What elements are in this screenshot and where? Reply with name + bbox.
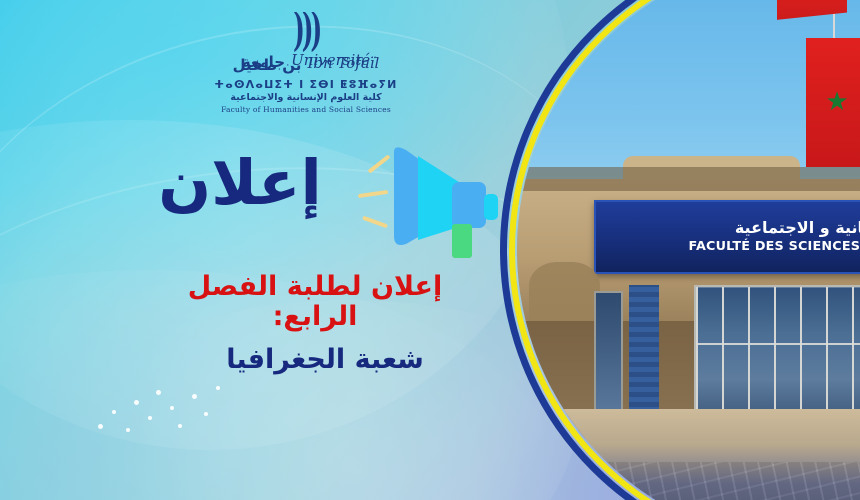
red-panel: ★ (806, 38, 860, 168)
sign-french-text: FACULTÉ DES SCIENCES HUMAINES ET SOCIALE… (688, 240, 860, 253)
logo-calligraphy-mark: ))) (251, 12, 361, 68)
faculty-sign: كلية العلوم الإنسانية و الاجتماعية FACUL… (594, 200, 860, 274)
panel-star-icon: ★ (825, 89, 848, 115)
sign-arabic-text: كلية العلوم الإنسانية و الاجتماعية (735, 220, 860, 236)
logo-english-faculty: Faculty of Humanities and Social Science… (206, 105, 406, 114)
page-title: إعلان (110, 152, 370, 214)
announcement-poster: ))) جامعة Université بن طفيل Ibn Tofaïl … (0, 0, 860, 500)
university-logo: ))) جامعة Université بن طفيل Ibn Tofaïl … (206, 8, 406, 130)
faculty-building-photo: ★ ★ كلية العلوم الإنسانية و الاجتماعية F… (517, 0, 860, 500)
decorative-dots (96, 384, 236, 444)
flag-star-icon: ★ (805, 0, 818, 1)
photo-paving (517, 462, 860, 500)
subtitle-navy: شعبة الجغرافيا (180, 345, 470, 375)
logo-tifinagh-text: ⵜⴰⵙⴷⴰⵡⵉⵜ ⵏ ⵉⴱⵏ ⵟⵓⴼⴰⵢⵍ (206, 78, 406, 91)
photo-glass-entrance-doors (694, 285, 860, 421)
photo-arch-left (529, 262, 600, 321)
subtitle-red: إعلان لطلبة الفصل الرابع: (150, 272, 480, 331)
logo-arabic-faculty: كلية العلوم الإنسانية والاجتماعية (206, 92, 406, 103)
photo-overhang (517, 167, 860, 191)
photo-tiled-column (629, 285, 659, 427)
faculty-photo-circle: ★ ★ كلية العلوم الإنسانية و الاجتماعية F… (500, 0, 860, 500)
photo-side-door (594, 291, 624, 415)
